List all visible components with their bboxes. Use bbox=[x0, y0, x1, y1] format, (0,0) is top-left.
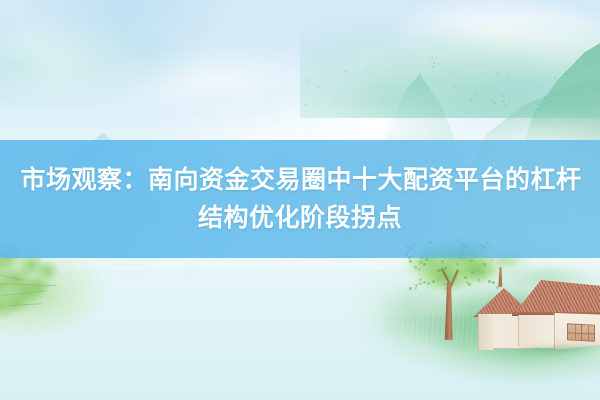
title-line-2: 结构优化阶段拐点 bbox=[198, 200, 402, 236]
window-mullion bbox=[588, 325, 589, 340]
house-shadow bbox=[512, 344, 600, 354]
poster-canvas: 市场观察：南向资金交易圈中十大配资平台的杠杆 结构优化阶段拐点 bbox=[0, 0, 600, 400]
window-mullion bbox=[575, 325, 576, 340]
house-window bbox=[567, 323, 595, 341]
house-roof-front bbox=[512, 280, 600, 316]
poster-title: 市场观察：南向资金交易圈中十大配资平台的杠杆 结构优化阶段拐点 bbox=[0, 140, 600, 258]
house-illustration bbox=[472, 276, 600, 356]
house-wall-side bbox=[478, 314, 493, 350]
title-line-1: 市场观察：南向资金交易圈中十大配资平台的杠杆 bbox=[18, 162, 581, 198]
